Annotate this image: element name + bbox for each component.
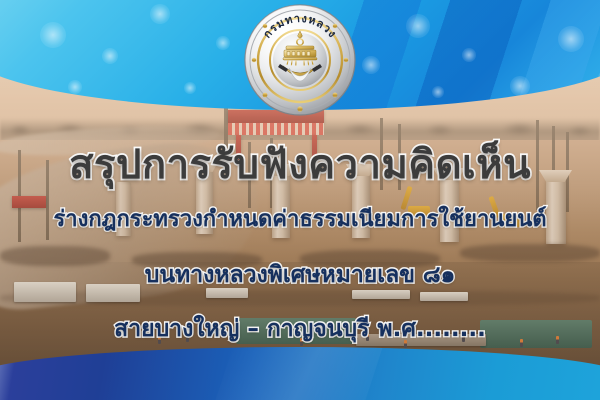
poster-subtitle-3: สายบางใหญ่ – กาญจนบุรี พ.ศ........ xyxy=(0,313,600,345)
poster-subtitle-1: ร่างกฎกระทรวงกำหนดค่าธรรมเนียมการใช้ยานย… xyxy=(0,205,600,235)
poster-subtitle-2: บนทางหลวงพิเศษหมายเลข ๘๑ xyxy=(0,259,600,291)
poster-banner: กรมทางหลวง สรุปการรับฟังความคิดเห็น ร่าง… xyxy=(0,0,600,400)
poster-title: สรุปการรับฟังความคิดเห็น xyxy=(0,140,600,190)
poster-text-block: สรุปการรับฟังความคิดเห็น ร่างกฎกระทรวงกำ… xyxy=(0,0,600,400)
